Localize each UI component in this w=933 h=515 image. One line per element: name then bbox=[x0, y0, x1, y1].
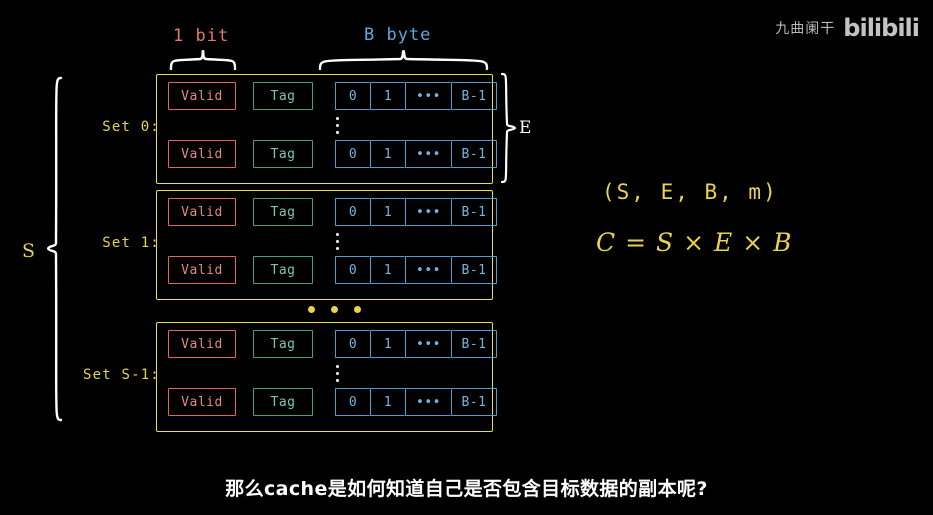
data-byte-ellipsis: ••• bbox=[405, 140, 451, 168]
valid-cell: Valid bbox=[168, 82, 236, 110]
data-block: 0 1 ••• B-1 bbox=[335, 140, 497, 168]
cache-line-0-1: Valid Tag 0 1 ••• B-1 bbox=[168, 140, 497, 168]
valid-cell: Valid bbox=[168, 198, 236, 226]
data-byte-0: 0 bbox=[335, 330, 370, 358]
tag-cell: Tag bbox=[253, 388, 313, 416]
data-byte-last: B-1 bbox=[451, 82, 497, 110]
data-byte-last: B-1 bbox=[451, 140, 497, 168]
tag-cell: Tag bbox=[253, 330, 313, 358]
video-subtitle: 那么cache是如何知道自己是否包含目标数据的副本呢? bbox=[0, 474, 933, 501]
tag-cell: Tag bbox=[253, 140, 313, 168]
cache-line-0-0: Valid Tag 0 1 ••• B-1 bbox=[168, 82, 497, 110]
data-byte-0: 0 bbox=[335, 198, 370, 226]
data-byte-1: 1 bbox=[370, 198, 405, 226]
valid-cell: Valid bbox=[168, 388, 236, 416]
valid-cell: Valid bbox=[168, 256, 236, 284]
line-vertical-ellipsis bbox=[336, 117, 339, 134]
formula-times-2: × bbox=[742, 228, 764, 257]
sets-ellipsis bbox=[308, 306, 361, 313]
data-byte-ellipsis: ••• bbox=[405, 256, 451, 284]
set-label-1: Set 1: bbox=[45, 235, 160, 251]
watermark-author: 九曲阑干 bbox=[775, 18, 835, 38]
formula-times-1: × bbox=[683, 228, 705, 257]
data-byte-ellipsis: ••• bbox=[405, 388, 451, 416]
valid-cell: Valid bbox=[168, 330, 236, 358]
watermark: 九曲阑干 bilibili bbox=[775, 14, 919, 42]
set-label-0: Set 0: bbox=[45, 119, 160, 135]
tag-cell: Tag bbox=[253, 82, 313, 110]
cache-line-s1-1: Valid Tag 0 1 ••• B-1 bbox=[168, 388, 497, 416]
data-block: 0 1 ••• B-1 bbox=[335, 256, 497, 284]
data-byte-1: 1 bbox=[370, 140, 405, 168]
tag-cell: Tag bbox=[253, 256, 313, 284]
data-byte-0: 0 bbox=[335, 82, 370, 110]
cache-line-s1-0: Valid Tag 0 1 ••• B-1 bbox=[168, 330, 497, 358]
data-byte-0: 0 bbox=[335, 256, 370, 284]
cache-line-1-0: Valid Tag 0 1 ••• B-1 bbox=[168, 198, 497, 226]
data-block: 0 1 ••• B-1 bbox=[335, 330, 497, 358]
data-block: 0 1 ••• B-1 bbox=[335, 388, 497, 416]
data-byte-1: 1 bbox=[370, 388, 405, 416]
data-byte-last: B-1 bbox=[451, 256, 497, 284]
formula-e-term: E bbox=[714, 228, 733, 257]
data-byte-ellipsis: ••• bbox=[405, 198, 451, 226]
data-block: 0 1 ••• B-1 bbox=[335, 198, 497, 226]
byte-span-label: B byte bbox=[364, 25, 431, 45]
s-label: S bbox=[22, 240, 35, 262]
e-brace-icon bbox=[500, 72, 518, 184]
line-vertical-ellipsis bbox=[336, 233, 339, 250]
formula-c-term: C bbox=[596, 228, 616, 257]
bit-brace-icon bbox=[169, 50, 237, 70]
set-label-s-1: Set S-1: bbox=[45, 367, 160, 383]
data-byte-last: B-1 bbox=[451, 330, 497, 358]
data-byte-1: 1 bbox=[370, 82, 405, 110]
valid-cell: Valid bbox=[168, 140, 236, 168]
byte-brace-icon bbox=[318, 50, 489, 70]
formula-b-term: B bbox=[773, 228, 792, 257]
line-vertical-ellipsis bbox=[336, 365, 339, 382]
data-byte-ellipsis: ••• bbox=[405, 82, 451, 110]
data-byte-last: B-1 bbox=[451, 388, 497, 416]
data-byte-0: 0 bbox=[335, 388, 370, 416]
data-byte-1: 1 bbox=[370, 256, 405, 284]
cache-capacity-formula: C = S × E × B bbox=[596, 228, 792, 257]
e-label: E bbox=[519, 118, 531, 138]
tag-cell: Tag bbox=[253, 198, 313, 226]
bilibili-logo-icon: bilibili bbox=[843, 14, 919, 42]
data-byte-1: 1 bbox=[370, 330, 405, 358]
slide-canvas: 九曲阑干 bilibili 1 bit B byte E S Set 0: Va… bbox=[0, 0, 933, 515]
cache-parameters-tuple: (S, E, B, m) bbox=[602, 180, 778, 204]
data-byte-ellipsis: ••• bbox=[405, 330, 451, 358]
data-byte-0: 0 bbox=[335, 140, 370, 168]
data-byte-last: B-1 bbox=[451, 198, 497, 226]
formula-s-term: S bbox=[656, 228, 674, 257]
data-block: 0 1 ••• B-1 bbox=[335, 82, 497, 110]
formula-equals: = bbox=[625, 228, 647, 257]
cache-line-1-1: Valid Tag 0 1 ••• B-1 bbox=[168, 256, 497, 284]
bit-span-label: 1 bit bbox=[173, 26, 229, 46]
